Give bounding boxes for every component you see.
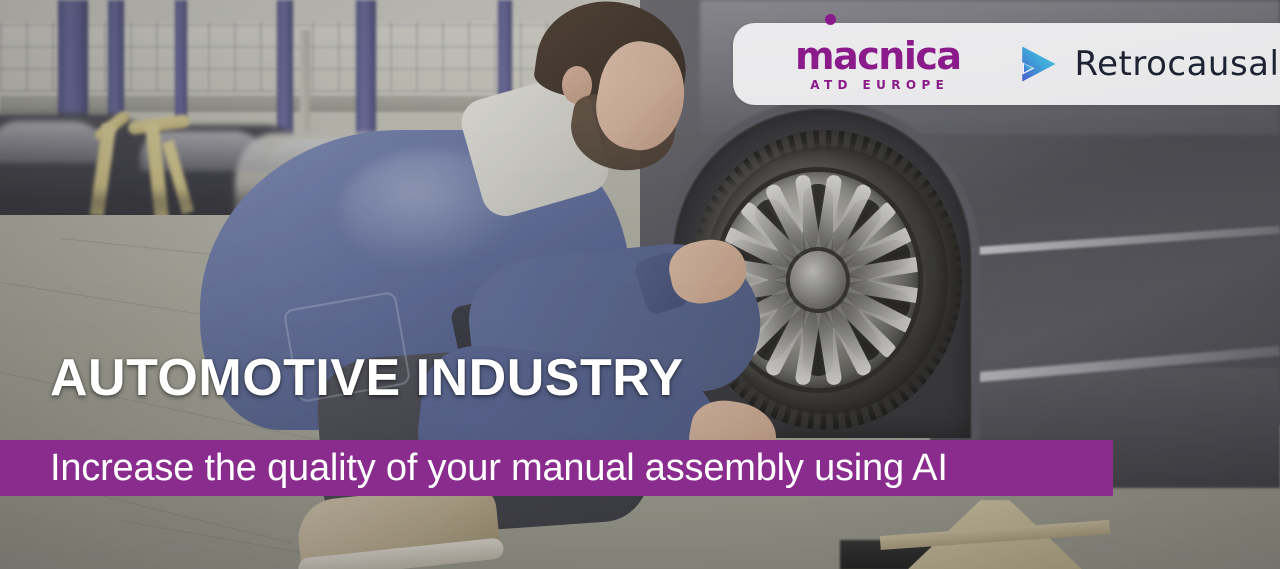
macnica-wordmark: macnica	[795, 37, 961, 75]
subtitle-bar: Increase the quality of your manual asse…	[0, 440, 1113, 496]
macnica-tagline: ATD EUROPE	[810, 78, 949, 92]
retrocausal-wordmark: Retrocausal	[1075, 47, 1280, 81]
macnica-logo: macnica ATD EUROPE	[795, 37, 961, 92]
page-title: AUTOMOTIVE INDUSTRY	[50, 348, 684, 408]
automotive-industry-banner: macnica ATD EUROPE Retrocausal AUTOM	[0, 0, 1280, 569]
retrocausal-play-triangle-icon	[1017, 43, 1059, 85]
macnica-i-dot	[825, 14, 836, 25]
subtitle-text: Increase the quality of your manual asse…	[50, 447, 948, 490]
retrocausal-logo: Retrocausal	[1017, 43, 1280, 85]
logo-bar: macnica ATD EUROPE Retrocausal	[733, 23, 1280, 105]
